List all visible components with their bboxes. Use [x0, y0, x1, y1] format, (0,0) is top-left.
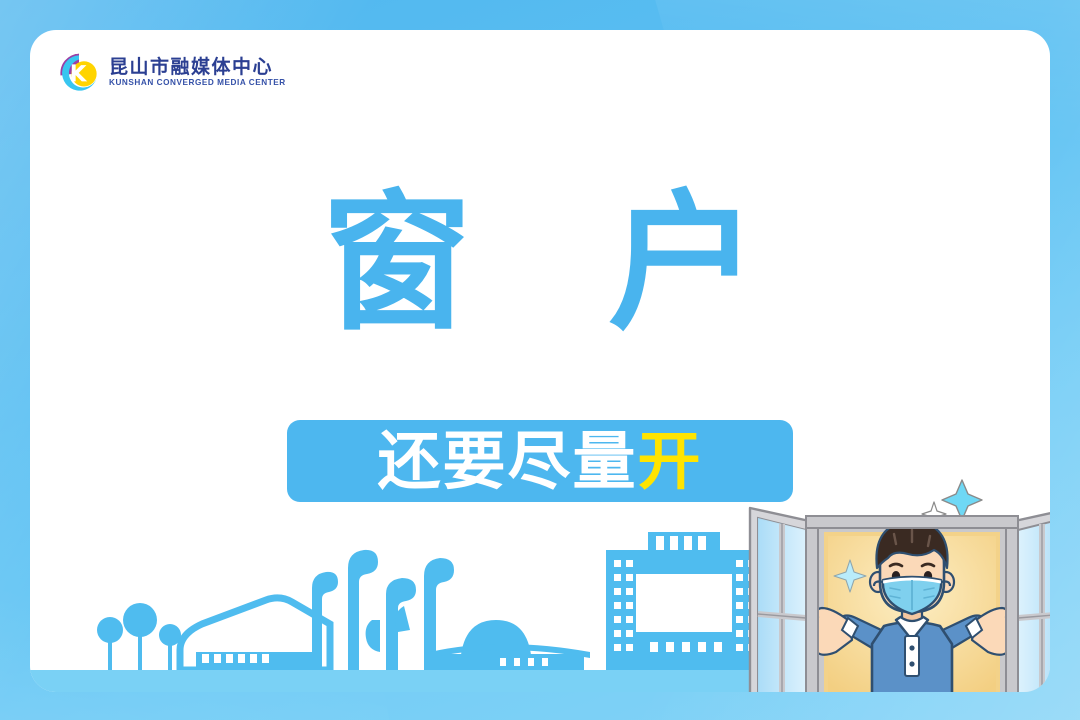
- white-content-card: 昆山市融媒体中心 KUNSHAN CONVERGED MEDIA CENTER …: [30, 30, 1050, 692]
- media-center-logo: 昆山市融媒体中心 KUNSHAN CONVERGED MEDIA CENTER: [58, 52, 286, 94]
- logo-name-en: KUNSHAN CONVERGED MEDIA CENTER: [109, 79, 286, 87]
- subtitle-banner-text: 还要尽量开: [378, 430, 703, 493]
- open-window-illustration: [744, 468, 1050, 692]
- kunshan-logo-mark-icon: [58, 52, 100, 94]
- subtitle-banner: 还要尽量开: [287, 420, 793, 502]
- logo-name-cn: 昆山市融媒体中心: [109, 58, 286, 77]
- page-title: 窗 户: [30, 188, 1050, 338]
- logo-text-block: 昆山市融媒体中心 KUNSHAN CONVERGED MEDIA CENTER: [109, 58, 286, 87]
- window-left-sash: [750, 508, 814, 692]
- subtitle-text-white: 还要尽量: [378, 425, 638, 498]
- poster-canvas: 昆山市融媒体中心 KUNSHAN CONVERGED MEDIA CENTER …: [0, 0, 1080, 720]
- subtitle-text-highlight: 开: [638, 425, 703, 498]
